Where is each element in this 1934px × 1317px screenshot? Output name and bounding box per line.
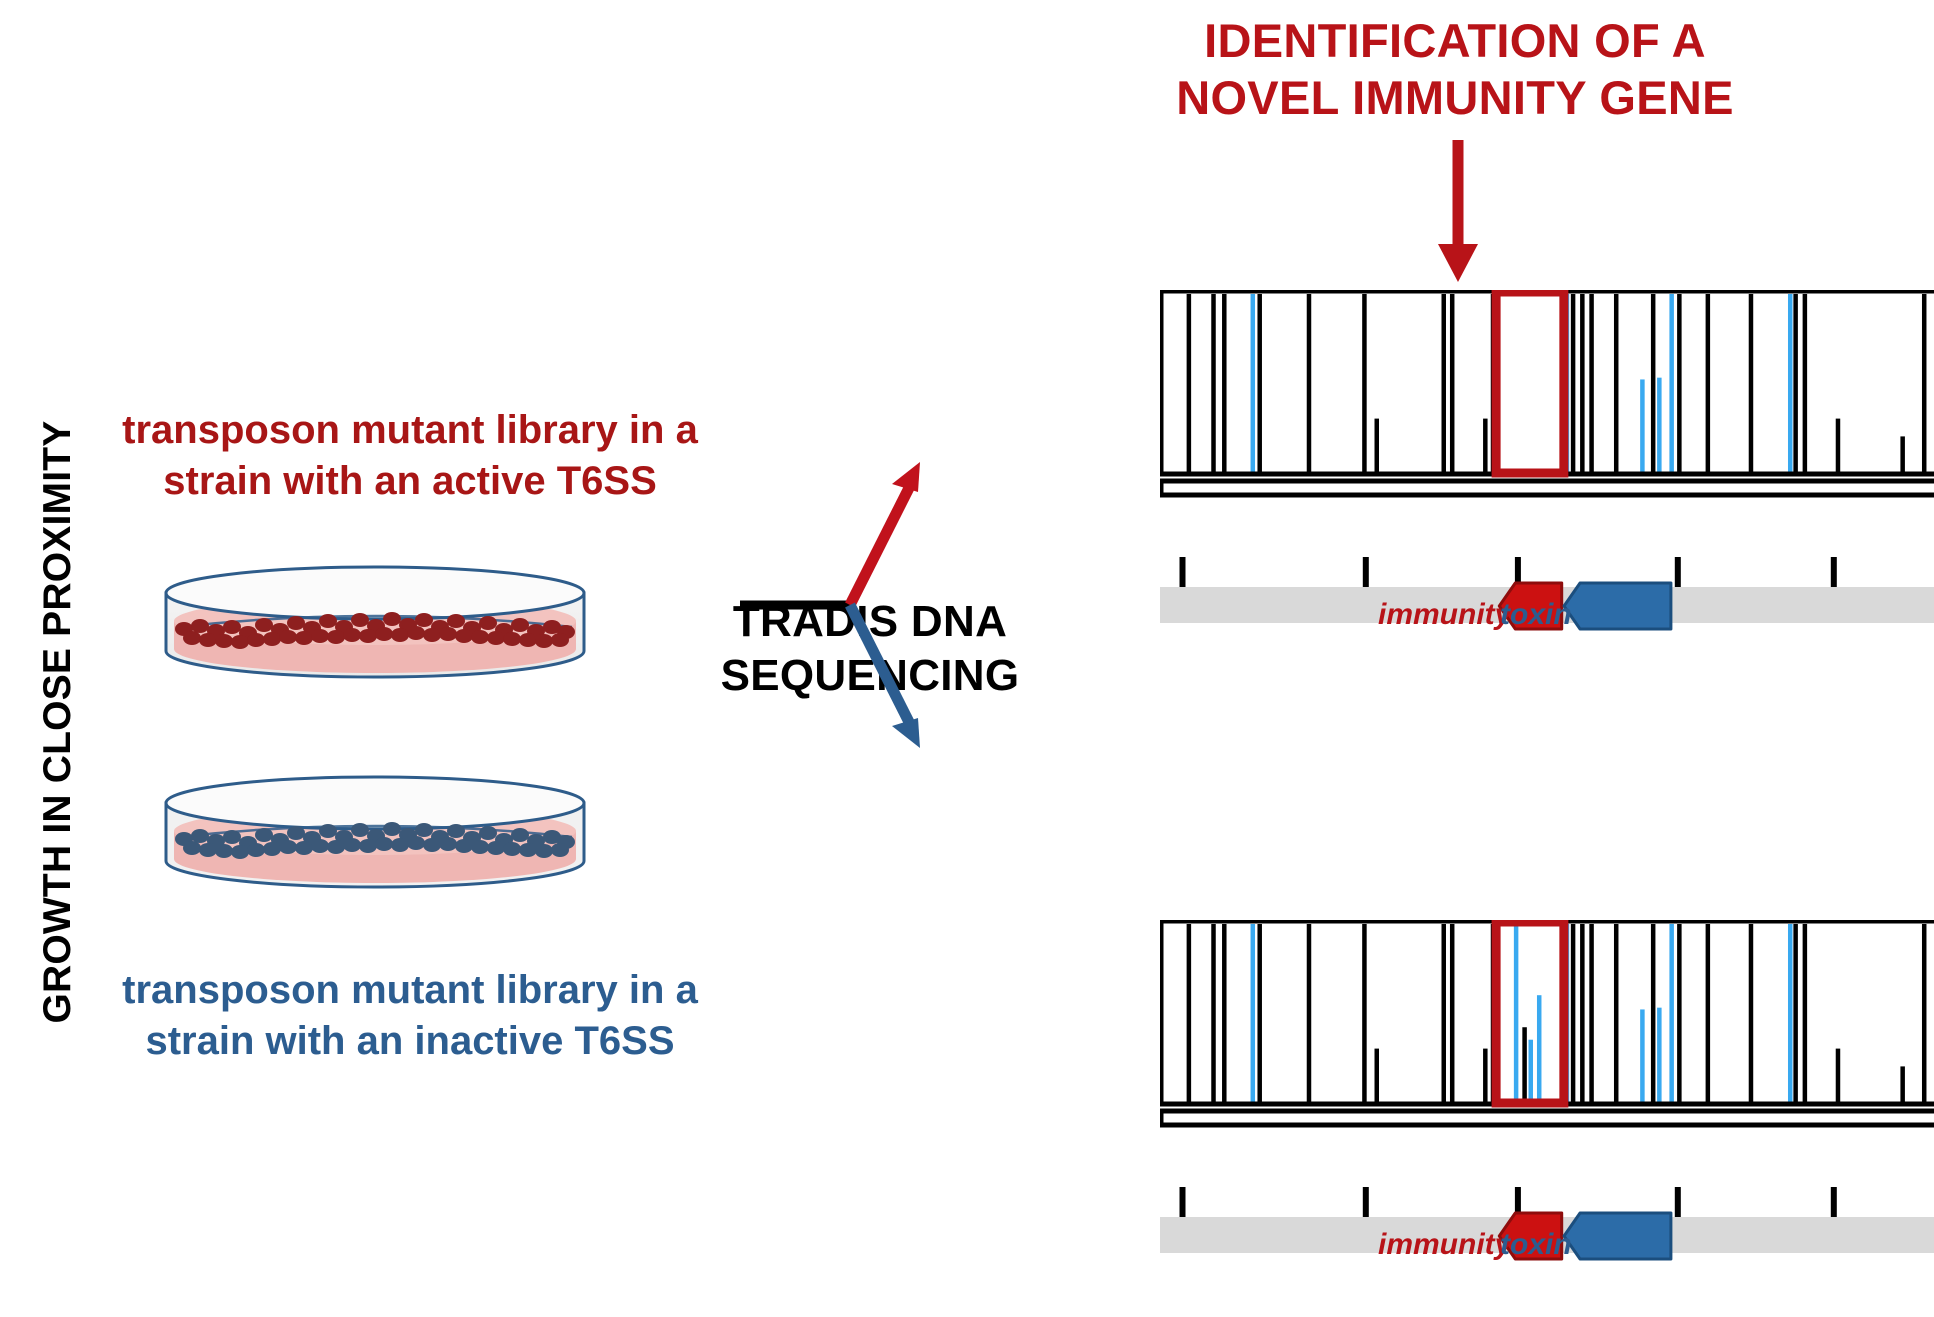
page-title: IDENTIFICATION OF A NOVEL IMMUNITY GENE: [1105, 12, 1805, 127]
track-ticks-bottom: [1180, 1187, 1837, 1219]
insertion-bar: [1788, 294, 1793, 472]
insertion-bar: [1537, 995, 1542, 1102]
gene-label-toxin-bottom: toxin: [1500, 1228, 1572, 1262]
insertion-bar: [1450, 924, 1455, 1102]
insertion-bar: [1307, 294, 1312, 472]
insertion-bar: [1793, 924, 1798, 1102]
insertion-bar: [1749, 294, 1754, 472]
insertion-bar: [1483, 1049, 1488, 1102]
insertion-bar: [1580, 294, 1585, 472]
insertion-bar: [1522, 1027, 1527, 1102]
insertion-bar: [1450, 294, 1455, 472]
insertion-bar: [1706, 924, 1711, 1102]
caption-inactive-t6ss: transposon mutant library in a strain wi…: [90, 965, 730, 1067]
track-ticks-top: [1180, 557, 1837, 589]
gene-label-toxin-top: toxin: [1500, 598, 1572, 632]
insertion-bar: [1900, 436, 1905, 472]
petri-dish-active: [160, 565, 590, 685]
track-tick: [1831, 557, 1837, 589]
insertion-plot-inactive-t6ss: [1160, 920, 1934, 1155]
insertion-bar: [1614, 924, 1619, 1102]
track-tick: [1675, 557, 1681, 589]
insertion-bar: [1362, 294, 1367, 472]
insertion-plot-active-t6ss: [1160, 290, 1934, 525]
bars-layer-top: [1187, 294, 1927, 472]
insertion-bar: [1211, 294, 1216, 472]
insertion-bar: [1257, 294, 1262, 472]
insertion-bar: [1187, 294, 1192, 472]
branch-arrow-up-icon: [850, 462, 920, 605]
insertion-bar: [1375, 1049, 1380, 1102]
insertion-bar: [1441, 294, 1446, 472]
caption-active-t6ss: transposon mutant library in a strain wi…: [90, 405, 730, 507]
growth-proximity-label: GROWTH IN CLOSE PROXIMITY: [36, 372, 80, 1072]
insertion-bar: [1803, 924, 1808, 1102]
insertion-bar: [1677, 924, 1682, 1102]
track-tick: [1180, 557, 1186, 589]
insertion-bar: [1922, 294, 1927, 472]
insertion-bar: [1793, 294, 1798, 472]
insertion-bar: [1836, 1049, 1841, 1102]
insertion-bar: [1589, 924, 1594, 1102]
insertion-bar: [1677, 294, 1682, 472]
insertion-bar: [1571, 294, 1576, 472]
insertion-bar: [1669, 924, 1674, 1102]
insertion-bar: [1375, 419, 1380, 472]
track-tick: [1831, 1187, 1837, 1219]
insertion-bar: [1803, 294, 1808, 472]
insertion-bar: [1706, 294, 1711, 472]
highlight-box-top: [1496, 292, 1564, 473]
insertion-bar: [1187, 924, 1192, 1102]
insertion-bar: [1529, 1040, 1534, 1102]
insertion-bar: [1657, 378, 1662, 472]
bars-layer-bottom: [1187, 924, 1927, 1102]
insertion-bar: [1362, 924, 1367, 1102]
insertion-bar: [1651, 924, 1656, 1102]
insertion-bar: [1640, 1009, 1645, 1102]
track-tick: [1675, 1187, 1681, 1219]
insertion-bar: [1900, 1066, 1905, 1102]
track-tick: [1180, 1187, 1186, 1219]
down-arrow-icon: [1430, 140, 1490, 290]
insertion-bar: [1257, 924, 1262, 1102]
insertion-bar: [1211, 924, 1216, 1102]
gene-arrow-toxin: [1564, 583, 1671, 629]
insertion-bar: [1614, 294, 1619, 472]
insertion-bar: [1441, 924, 1446, 1102]
insertion-bar: [1589, 294, 1594, 472]
insertion-bar: [1483, 419, 1488, 472]
insertion-bar: [1669, 294, 1674, 472]
insertion-bar: [1651, 294, 1656, 472]
gene-label-immunity-bottom: immunity: [1378, 1228, 1511, 1262]
insertion-bar: [1580, 924, 1585, 1102]
gene-label-immunity-top: immunity: [1378, 598, 1511, 632]
insertion-bar: [1640, 379, 1645, 472]
insertion-bar: [1657, 1008, 1662, 1102]
insertion-bar: [1749, 924, 1754, 1102]
insertion-bar: [1836, 419, 1841, 472]
branch-arrow-down-icon: [850, 605, 920, 748]
plot-svg-bottom: [1160, 920, 1934, 1150]
insertion-bar: [1788, 924, 1793, 1102]
plot-svg-top: [1160, 290, 1934, 520]
track-tick: [1363, 1187, 1369, 1219]
petri-dish-inactive: [160, 775, 590, 895]
track-tick: [1363, 557, 1369, 589]
insertion-bar: [1251, 294, 1256, 472]
insertion-bar: [1222, 924, 1227, 1102]
insertion-bar: [1307, 924, 1312, 1102]
figure-canvas: GROWTH IN CLOSE PROXIMITY transposon mut…: [0, 0, 1934, 1317]
insertion-bar: [1514, 924, 1519, 1102]
insertion-bar: [1571, 924, 1576, 1102]
insertion-bar: [1222, 294, 1227, 472]
insertion-bar: [1251, 924, 1256, 1102]
process-branch-arrows: [740, 440, 950, 780]
insertion-bar: [1922, 924, 1927, 1102]
gene-arrow-toxin: [1564, 1213, 1671, 1259]
